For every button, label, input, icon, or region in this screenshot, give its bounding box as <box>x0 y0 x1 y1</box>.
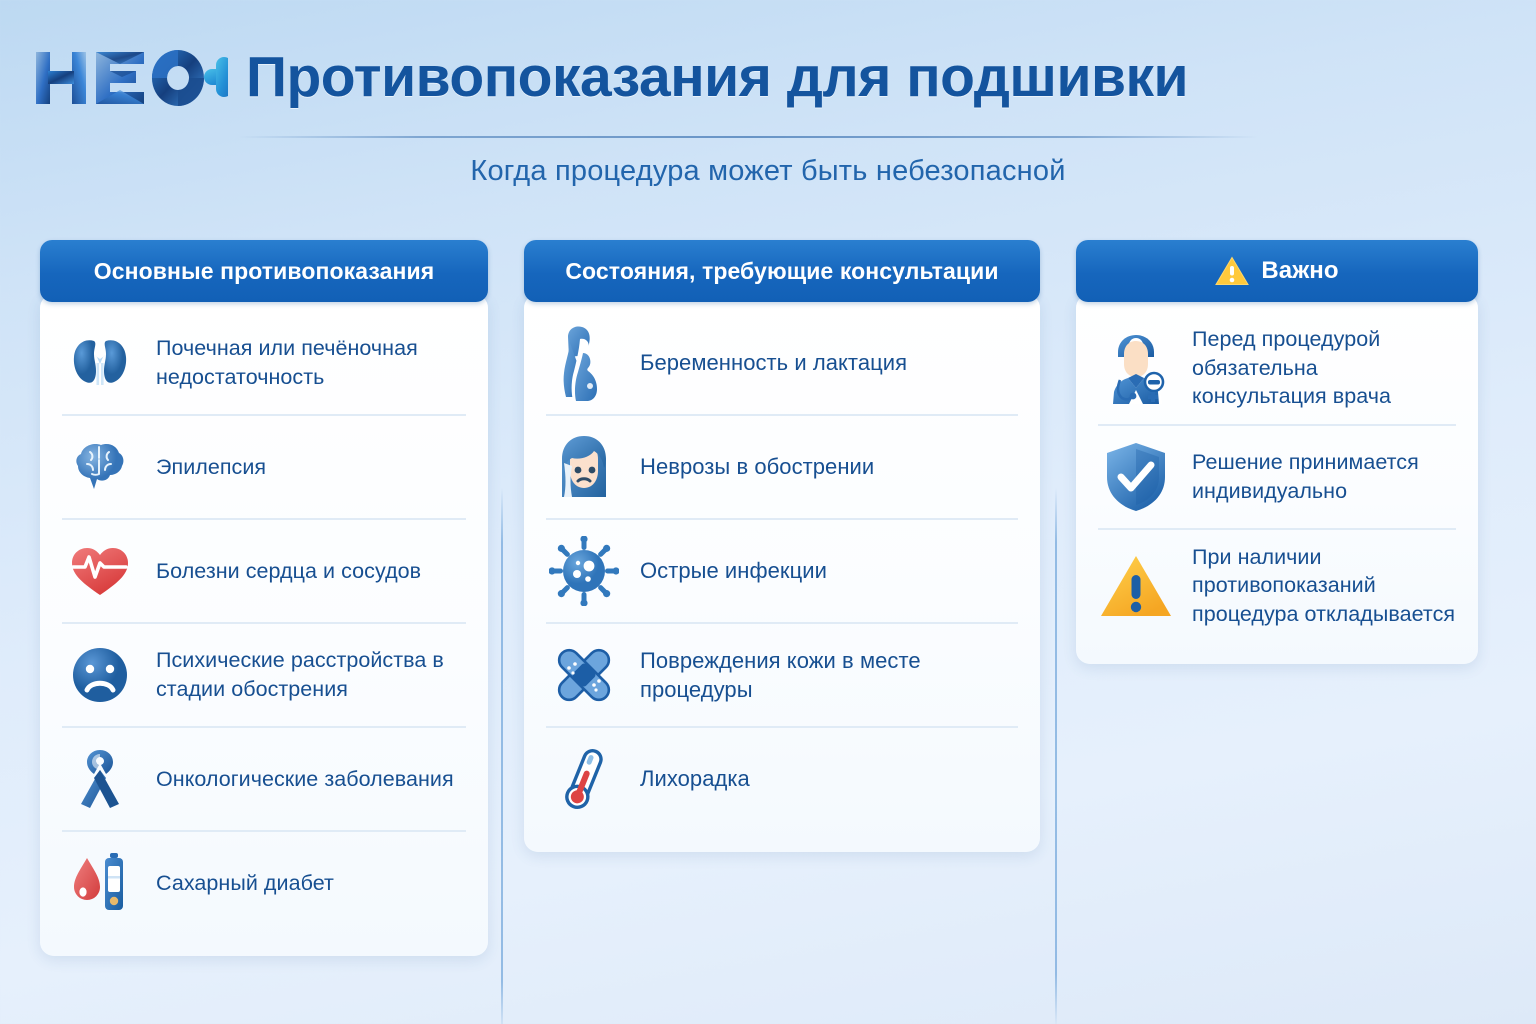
column-important: Важно <box>1076 240 1478 664</box>
column-conditions-requiring-consultation: Состояния, требующие консультации <box>524 240 1040 852</box>
list-item[interactable]: Перед процедурой обязательна консультаци… <box>1098 312 1456 426</box>
list-item-label: Болезни сердца и сосудов <box>156 557 421 586</box>
shield-check-icon <box>1098 439 1174 515</box>
column-header-important: Важно <box>1076 240 1478 302</box>
logo-letter-e <box>96 52 144 104</box>
page-title: Противопоказания для подшивки <box>246 48 1188 108</box>
warning-triangle-icon <box>1098 548 1174 624</box>
bandage-icon <box>546 637 622 713</box>
neo-plus-logo <box>32 44 228 112</box>
kidneys-icon <box>62 325 138 401</box>
list-item-label: Лихорадка <box>640 764 750 793</box>
list-item[interactable]: При наличии противопоказаний процедура о… <box>1098 530 1456 642</box>
awareness-ribbon-icon <box>62 741 138 817</box>
warning-triangle-icon <box>1215 256 1249 286</box>
list-item[interactable]: Эпилепсия <box>62 416 466 520</box>
logo-letter-o <box>152 50 204 106</box>
brain-icon <box>62 429 138 505</box>
list-item-label: Повреждения кожи в месте процедуры <box>640 646 1018 705</box>
column-header-label: Важно <box>1261 257 1338 285</box>
list-item-label: Сахарный диабет <box>156 869 334 898</box>
list-item-label: Неврозы в обострении <box>640 452 874 481</box>
list-item[interactable]: Неврозы в обострении <box>546 416 1018 520</box>
list-item-label: Решение принимается индивидуально <box>1192 448 1456 505</box>
list-item[interactable]: Психические расстройства в стадии обостр… <box>62 624 466 728</box>
list-item[interactable]: Решение принимается индивидуально <box>1098 426 1456 530</box>
list-item-label: Беременность и лактация <box>640 348 907 377</box>
column-main-contraindications: Основные противопоказания По <box>40 240 488 956</box>
list-item-label: Психические расстройства в стадии обостр… <box>156 646 466 703</box>
list-item[interactable]: Повреждения кожи в месте процедуры <box>546 624 1018 728</box>
list-item[interactable]: Онкологические заболевания <box>62 728 466 832</box>
thermometer-icon <box>546 741 622 817</box>
page-header: Противопоказания для подшивки Когда проц… <box>0 0 1536 210</box>
card-conditions-requiring-consultation: Беременность и лактация <box>524 294 1040 852</box>
list-item[interactable]: Почечная или печёночная недостаточность <box>62 312 466 416</box>
column-separator-2 <box>1055 488 1057 1024</box>
list-item-label: При наличии противопоказаний процедура о… <box>1192 543 1456 629</box>
heart-pulse-icon <box>62 533 138 609</box>
column-header-conditions-requiring-consultation: Состояния, требующие консультации <box>524 240 1040 302</box>
columns-area: Основные противопоказания По <box>0 240 1536 920</box>
page-subtitle: Когда процедура может быть небезопасной <box>0 155 1536 188</box>
virus-icon <box>546 533 622 609</box>
list-item-label: Перед процедурой обязательна консультаци… <box>1192 325 1456 411</box>
column-header-label: Состояния, требующие консультации <box>565 258 998 285</box>
column-separator-1 <box>501 488 503 1024</box>
list-item[interactable]: Лихорадка <box>546 728 1018 830</box>
column-header-label: Основные противопоказания <box>94 258 435 285</box>
list-item[interactable]: Болезни сердца и сосудов <box>62 520 466 624</box>
title-divider <box>238 136 1258 138</box>
card-main-contraindications: Почечная или печёночная недостаточность … <box>40 294 488 956</box>
list-item-label: Острые инфекции <box>640 556 827 585</box>
list-item-label: Онкологические заболевания <box>156 765 454 794</box>
glucometer-icon <box>62 845 138 921</box>
brand-row: Противопоказания для подшивки <box>32 44 1502 112</box>
list-item-label: Почечная или печёночная недостаточность <box>156 334 466 391</box>
pregnant-woman-icon <box>546 325 622 401</box>
list-item[interactable]: Сахарный диабет <box>62 832 466 934</box>
logo-letter-n <box>36 52 86 104</box>
logo-plus-icon <box>204 57 228 97</box>
list-item[interactable]: Острые инфекции <box>546 520 1018 624</box>
list-item-label: Эпилепсия <box>156 453 266 482</box>
card-important: Перед процедурой обязательна консультаци… <box>1076 294 1478 664</box>
sad-face-icon <box>62 637 138 713</box>
doctor-icon <box>1098 330 1174 406</box>
column-header-main-contraindications: Основные противопоказания <box>40 240 488 302</box>
list-item[interactable]: Беременность и лактация <box>546 312 1018 416</box>
worried-woman-icon <box>546 429 622 505</box>
